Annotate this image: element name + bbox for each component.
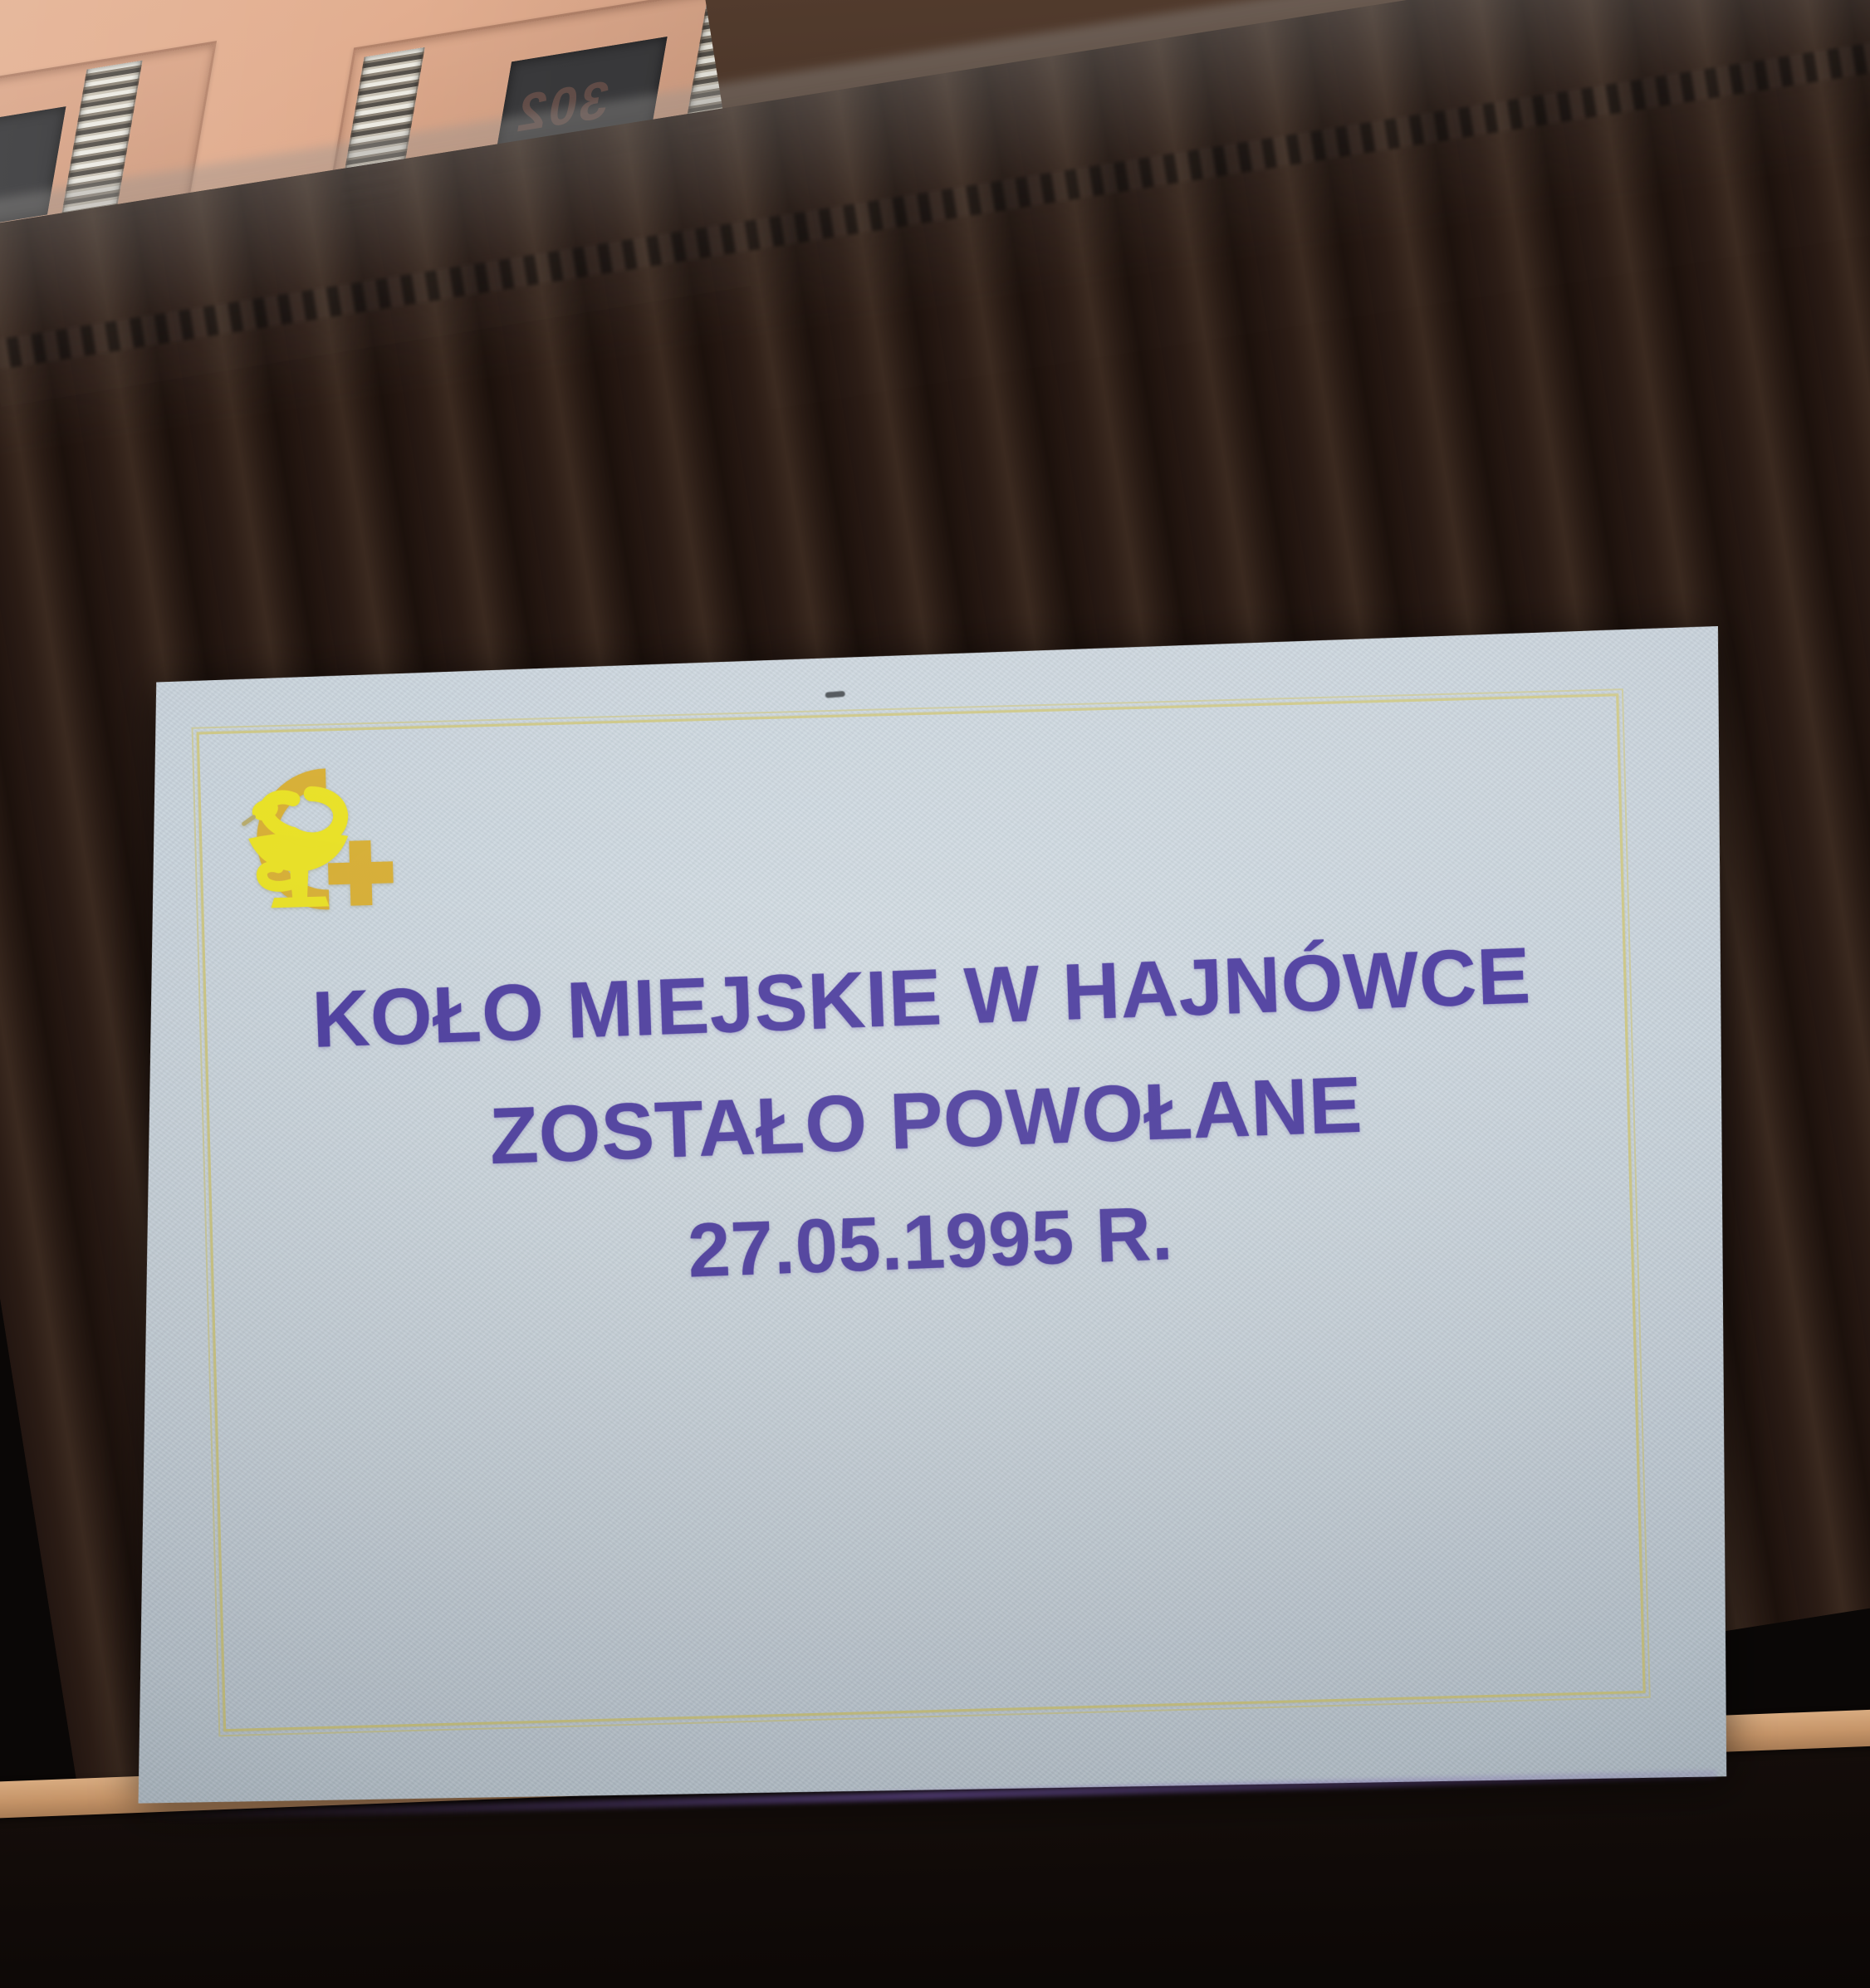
diffuser-louver-grille bbox=[60, 61, 143, 225]
pharmacy-bowl-of-hygieia-logo bbox=[200, 748, 396, 932]
slide-text-block: KOŁO MIEJSKIE W HAJNÓWCE ZOSTAŁO POWOŁAN… bbox=[179, 931, 1672, 1307]
projection-screen: KOŁO MIEJSKIE W HAJNÓWCE ZOSTAŁO POWOŁAN… bbox=[108, 626, 1750, 1819]
slide-line-2: ZOSTAŁO POWOŁANE bbox=[184, 1054, 1667, 1187]
photo-scene: 302 bbox=[0, 0, 1870, 1988]
